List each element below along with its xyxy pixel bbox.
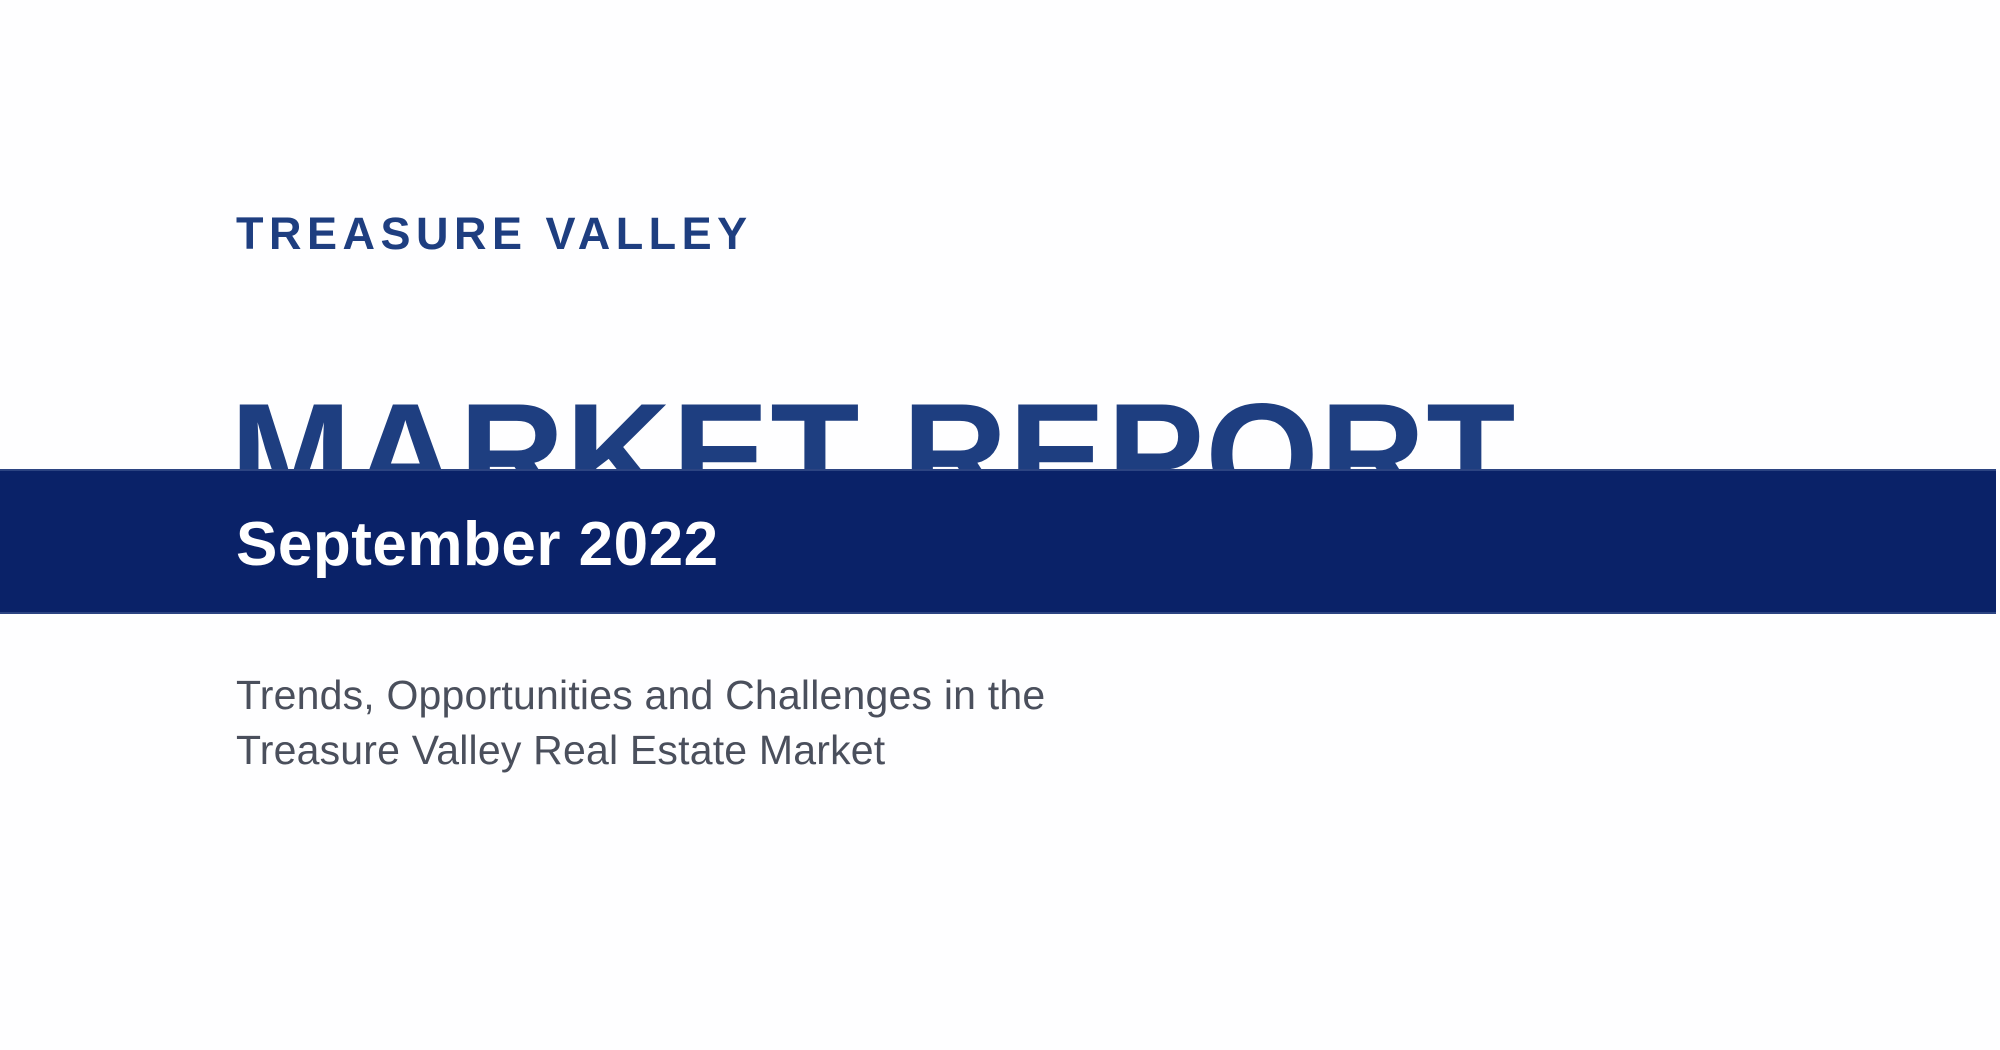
report-subtitle-line-2: Treasure Valley Real Estate Market <box>236 723 1336 778</box>
report-eyebrow-treasure-valley: TREASURE VALLEY <box>236 211 753 256</box>
market-report-cover-slide: TREASURE VALLEY MARKET REPORT September … <box>0 0 2000 1050</box>
report-date-label: September 2022 <box>236 514 719 576</box>
report-date-band: September 2022 <box>0 469 1996 614</box>
report-subtitle: Trends, Opportunities and Challenges in … <box>236 668 1336 778</box>
report-subtitle-line-1: Trends, Opportunities and Challenges in … <box>236 668 1336 723</box>
